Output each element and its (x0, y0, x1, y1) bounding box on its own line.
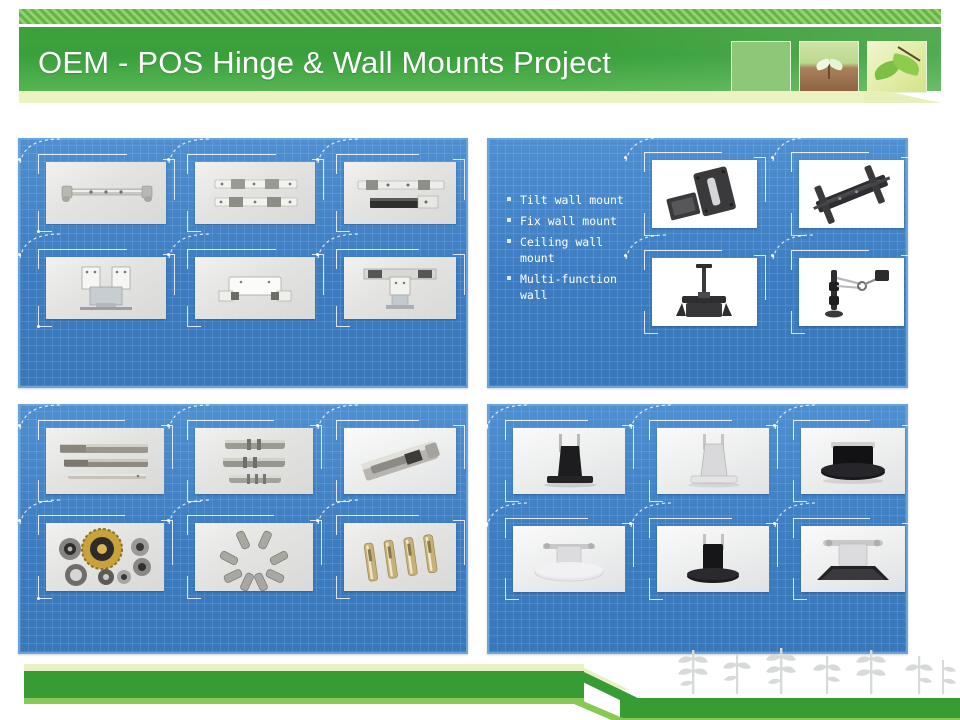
silver-round-stand-illustration (513, 526, 625, 592)
slide: OEM - POS Hinge & Wall Mounts Project (0, 0, 960, 720)
multifunction-mount-illustration (799, 258, 904, 326)
accent-dot (629, 522, 632, 525)
page-title: OEM - POS Hinge & Wall Mounts Project (38, 43, 728, 83)
product-photo-cell[interactable] (657, 428, 769, 494)
ribbon-pale-left (24, 664, 584, 671)
panel-lcd-stand-base[interactable]: LCD Stand Base (487, 404, 908, 654)
wall-mount-feature-list: Tilt wall mount Fix wall mount Ceiling w… (507, 192, 637, 308)
accent-dot (18, 424, 21, 427)
product-photo-cell[interactable] (652, 160, 757, 228)
product-photo-cell[interactable] (513, 428, 625, 494)
hinge-plate-illustration (195, 257, 315, 319)
accent-dot (316, 158, 319, 161)
ribbon-lightgreen-left (24, 698, 584, 704)
ribbon-green-right (620, 698, 960, 718)
product-photo-cell[interactable] (513, 526, 625, 592)
header-hatch-strip (19, 9, 941, 24)
accent-dot (37, 230, 40, 233)
pins-illustration (195, 428, 313, 494)
list-item: Multi-function wall (507, 271, 637, 303)
sprout-leaf-right-icon (828, 58, 844, 71)
hinge-barrel-photo (344, 162, 456, 224)
gears-bearings-photo (46, 523, 164, 591)
product-photo-cell[interactable] (801, 526, 905, 592)
pin-circle-photo (195, 523, 313, 591)
product-photo-cell[interactable] (652, 258, 757, 326)
green-leaves-photo-thumbnail (867, 41, 927, 93)
accent-dot (18, 519, 21, 522)
header-thumbnail-strip (731, 41, 929, 93)
black-curved-stand-photo (801, 526, 905, 592)
panel-pos-nb-hinge[interactable]: POS & NB Hinge (18, 138, 468, 388)
product-photo-cell[interactable] (344, 257, 456, 319)
panel-wall-mount[interactable]: Tilt wall mount Fix wall mount Ceiling w… (487, 138, 908, 388)
product-photo-cell[interactable] (46, 523, 164, 591)
product-photo-cell[interactable] (195, 162, 315, 224)
accent-dot (485, 522, 488, 525)
black-curved-stand-illustration (801, 526, 905, 592)
pin-circle-illustration (195, 523, 313, 591)
hinge-bar-photo (46, 162, 166, 224)
t-bracket-hinge-photo (344, 257, 456, 319)
ceiling-mount-illustration (652, 258, 757, 326)
accent-dot (316, 253, 319, 256)
black-rect-stand-illustration (513, 428, 625, 494)
display-hinge-plate-photo (195, 257, 315, 319)
taps-illustration (46, 428, 164, 494)
bottom-ribbon (0, 660, 960, 720)
multi-function-wall-mount-photo (799, 258, 904, 326)
accent-dot (771, 254, 774, 257)
product-photo-cell[interactable] (344, 428, 456, 494)
silver-round-stand-photo (513, 526, 625, 592)
accent-dot (771, 156, 774, 159)
black-round-pedestal-stand-photo (657, 526, 769, 592)
accent-dot (624, 156, 627, 159)
twin-bracket-illustration (46, 257, 166, 319)
black-oval-stand-illustration (801, 428, 905, 494)
tilt-mount-illustration (652, 160, 757, 228)
silver-rect-stand-illustration (657, 428, 769, 494)
tilt-wall-mount-photo (652, 160, 757, 228)
ribbon-green-left (24, 671, 584, 698)
panel-precise-components[interactable]: Precise Components (18, 404, 468, 654)
accent-dot (18, 253, 21, 256)
accent-dot (773, 522, 776, 525)
accent-dot (37, 597, 40, 600)
hinge-barrel-illustration (344, 162, 456, 224)
t-bracket-illustration (344, 257, 456, 319)
accent-dot (773, 424, 776, 427)
slide-header: OEM - POS Hinge & Wall Mounts Project (0, 0, 960, 130)
terminal-pins-illustration (344, 523, 456, 591)
blank-green-thumbnail (731, 41, 791, 93)
fix-wall-mount-photo (799, 160, 904, 228)
brass-terminal-pins-photo (344, 523, 456, 591)
accent-dot (37, 325, 40, 328)
twin-bracket-hinge-photo (46, 257, 166, 319)
silver-rect-stand-photo (657, 428, 769, 494)
product-photo-cell[interactable] (344, 162, 456, 224)
product-photo-cell[interactable] (799, 160, 904, 228)
black-rect-stand-photo (513, 428, 625, 494)
gears-bearings-illustration (46, 523, 164, 591)
product-photo-cell[interactable] (344, 523, 456, 591)
accent-dot (167, 253, 170, 256)
accent-dot (629, 424, 632, 427)
steel-block-component-photo (344, 428, 456, 494)
grooved-pins-photo (195, 428, 313, 494)
accent-dot (316, 519, 319, 522)
product-photo-cell[interactable] (195, 428, 313, 494)
list-item: Tilt wall mount (507, 192, 637, 208)
product-photo-cell[interactable] (46, 257, 166, 319)
product-photo-cell[interactable] (46, 428, 164, 494)
steel-block-illustration (344, 428, 456, 494)
product-photo-cell[interactable] (801, 428, 905, 494)
product-photo-cell[interactable] (657, 526, 769, 592)
black-oval-stand-photo (801, 428, 905, 494)
product-photo-cell[interactable] (799, 258, 904, 326)
accent-dot (624, 254, 627, 257)
product-photo-cell[interactable] (195, 257, 315, 319)
taps-and-shafts-photo (46, 428, 164, 494)
accent-dot (167, 519, 170, 522)
list-item: Fix wall mount (507, 213, 637, 229)
seedling-photo-thumbnail (799, 41, 859, 93)
product-photo-cell[interactable] (195, 523, 313, 591)
accent-dot (167, 424, 170, 427)
accent-dot (316, 424, 319, 427)
fix-mount-illustration (799, 160, 904, 228)
list-item: Ceiling wall mount (507, 234, 637, 266)
hinge-rails-photo (195, 162, 315, 224)
ceiling-wall-mount-photo (652, 258, 757, 326)
hinge-bar-illustration (46, 162, 166, 224)
accent-dot (485, 424, 488, 427)
accent-dot (18, 158, 21, 161)
accent-dot (167, 158, 170, 161)
hinge-rails-illustration (195, 162, 315, 224)
black-round-stand-illustration (657, 526, 769, 592)
header-pale-underline (19, 91, 864, 103)
product-photo-cell[interactable] (46, 162, 166, 224)
